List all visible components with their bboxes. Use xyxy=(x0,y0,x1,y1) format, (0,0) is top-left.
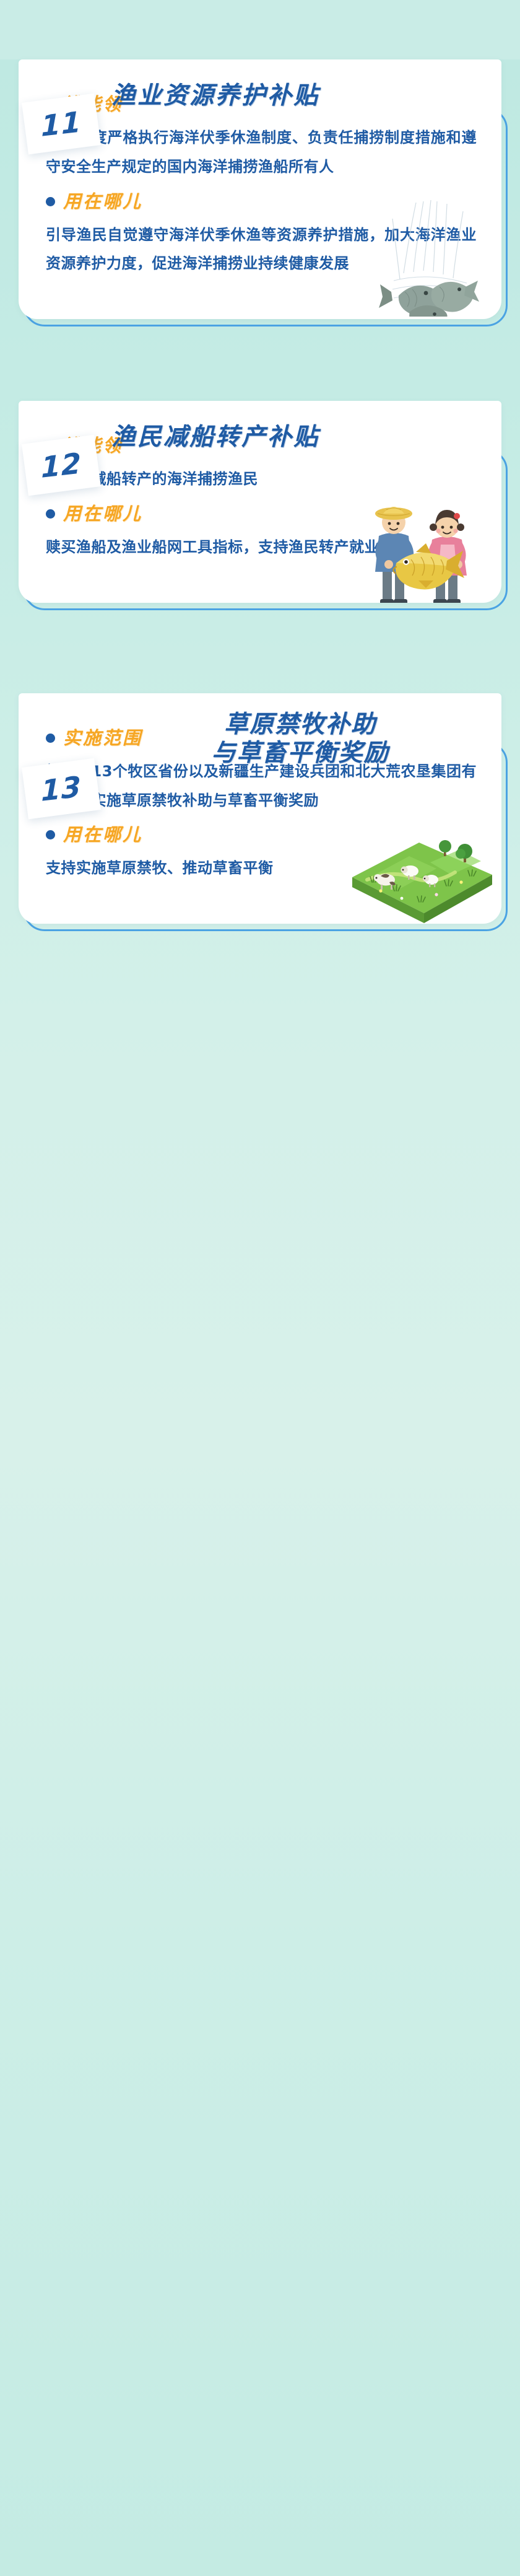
section-body-text: 按要求减船转产的海洋捕捞渔民 xyxy=(46,465,477,494)
bullet-dot-icon xyxy=(46,197,55,206)
section-body-text: 上一年度严格执行海洋伏季休渔制度、负责任捕捞制度措施和遵守安全生产规定的国内海洋… xyxy=(46,123,477,182)
section-where-used: 用在哪儿 支持实施草原禁牧、推动草畜平衡 xyxy=(46,826,477,883)
card-number-text: 11 xyxy=(41,107,82,141)
bullet-dot-icon xyxy=(46,509,55,519)
card-number-text: 12 xyxy=(41,449,82,482)
card-title-line: 渔民减船转产补贴 xyxy=(111,423,495,452)
section-heading: 用在哪儿 xyxy=(46,505,477,523)
section-label: 用在哪儿 xyxy=(63,505,142,523)
section-heading: 用在哪儿 xyxy=(46,826,477,844)
bullet-dot-icon xyxy=(46,830,55,839)
card-title-line: 渔业资源养护补贴 xyxy=(111,82,495,110)
section-where-used: 用在哪儿 赎买渔船及渔业船网工具指标，支持渔民转产就业 xyxy=(46,505,477,562)
section-where-used: 用在哪儿 引导渔民自觉遵守海洋伏季休渔等资源养护措施，加大海洋渔业资源养护力度，… xyxy=(46,193,477,279)
section-label: 用在哪儿 xyxy=(63,193,142,211)
card-title: 渔民减船转产补贴 xyxy=(111,423,495,452)
card-number-badge: 13 xyxy=(22,758,101,819)
card-title-line: 与草畜平衡奖励 xyxy=(105,739,495,768)
card-title: 草原禁牧补助 与草畜平衡奖励 xyxy=(105,711,495,768)
section-heading: 用在哪儿 xyxy=(46,193,477,211)
card-title: 渔业资源养护补贴 xyxy=(111,82,495,110)
infographic-page: 11 渔业资源养护补贴 谁能领 上一年度严格执行海洋伏季休渔制度、负责任捕捞制度… xyxy=(0,59,520,973)
section-body-text: 支持实施草原禁牧、推动草畜平衡 xyxy=(46,854,477,883)
policy-card-12: 12 渔民减船转产补贴 谁能领 按要求减船转产的海洋捕捞渔民 用在哪儿 赎买渔船… xyxy=(19,401,501,603)
policy-card-11: 11 渔业资源养护补贴 谁能领 上一年度严格执行海洋伏季休渔制度、负责任捕捞制度… xyxy=(19,59,501,319)
section-body-text: 引导渔民自觉遵守海洋伏季休渔等资源养护措施，加大海洋渔业资源养护力度，促进海洋捕… xyxy=(46,221,477,279)
card-number-badge: 12 xyxy=(22,435,101,496)
section-label: 用在哪儿 xyxy=(63,826,142,844)
policy-card-13: 13 草原禁牧补助 与草畜平衡奖励 实施范围 继续在13个牧区省份以及新疆生产建… xyxy=(19,693,501,924)
section-body-text: 赎买渔船及渔业船网工具指标，支持渔民转产就业 xyxy=(46,533,477,562)
bullet-dot-icon xyxy=(46,734,55,743)
card-title-line: 草原禁牧补助 xyxy=(105,711,495,739)
card-number-text: 13 xyxy=(41,772,82,805)
card-number-badge: 11 xyxy=(22,94,101,155)
